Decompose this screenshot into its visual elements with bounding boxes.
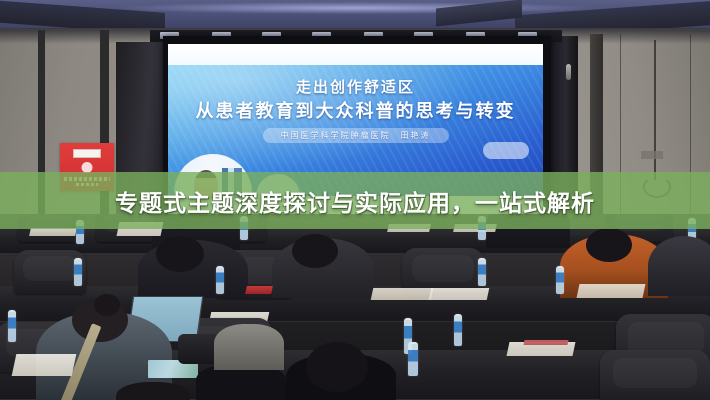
conference-photo-scene: 走出创作舒适区 从患者教育到大众科普的思考与转变 中国医学科学院肿瘤医院 田艳涛 (0, 0, 710, 400)
caption-text: 专题式主题深度探讨与实际应用，一站式解析 (0, 172, 710, 229)
slide-title-line-2: 从患者教育到大众科普的思考与转变 (168, 97, 543, 123)
poster-title-plate (73, 149, 101, 158)
wall-signage-plate (641, 151, 663, 159)
water-bottle (216, 266, 224, 294)
red-pen (523, 340, 568, 345)
water-bottle (478, 258, 486, 286)
water-bottle (408, 342, 418, 376)
hair-bun (94, 294, 120, 316)
person-head (292, 234, 338, 268)
paper-sheet (29, 228, 77, 236)
slide-subtitle: 中国医学科学院肿瘤医院 田艳涛 (263, 128, 449, 143)
chair (600, 350, 710, 400)
paper-sheet (577, 284, 646, 298)
slide-title-line-1: 走出创作舒适区 (168, 76, 543, 97)
paper-sheet (371, 288, 434, 300)
wall-cable (654, 40, 656, 180)
audience-area (0, 214, 710, 400)
water-bottle (454, 314, 462, 346)
person-head (586, 228, 632, 262)
person-head (156, 236, 204, 272)
red-item (245, 286, 273, 294)
water-bottle (556, 266, 564, 294)
water-bottle (74, 258, 82, 286)
paper-sheet (12, 354, 77, 376)
audience-person-front (116, 382, 190, 400)
door-handle-icon (566, 64, 571, 80)
paper-sheet (429, 288, 490, 300)
slide-cloud-shape (483, 142, 529, 159)
audience-person (648, 236, 710, 296)
slide-top-band (168, 44, 543, 65)
water-bottle (8, 310, 16, 342)
audience-person-front (214, 324, 284, 370)
person-head (306, 342, 368, 392)
